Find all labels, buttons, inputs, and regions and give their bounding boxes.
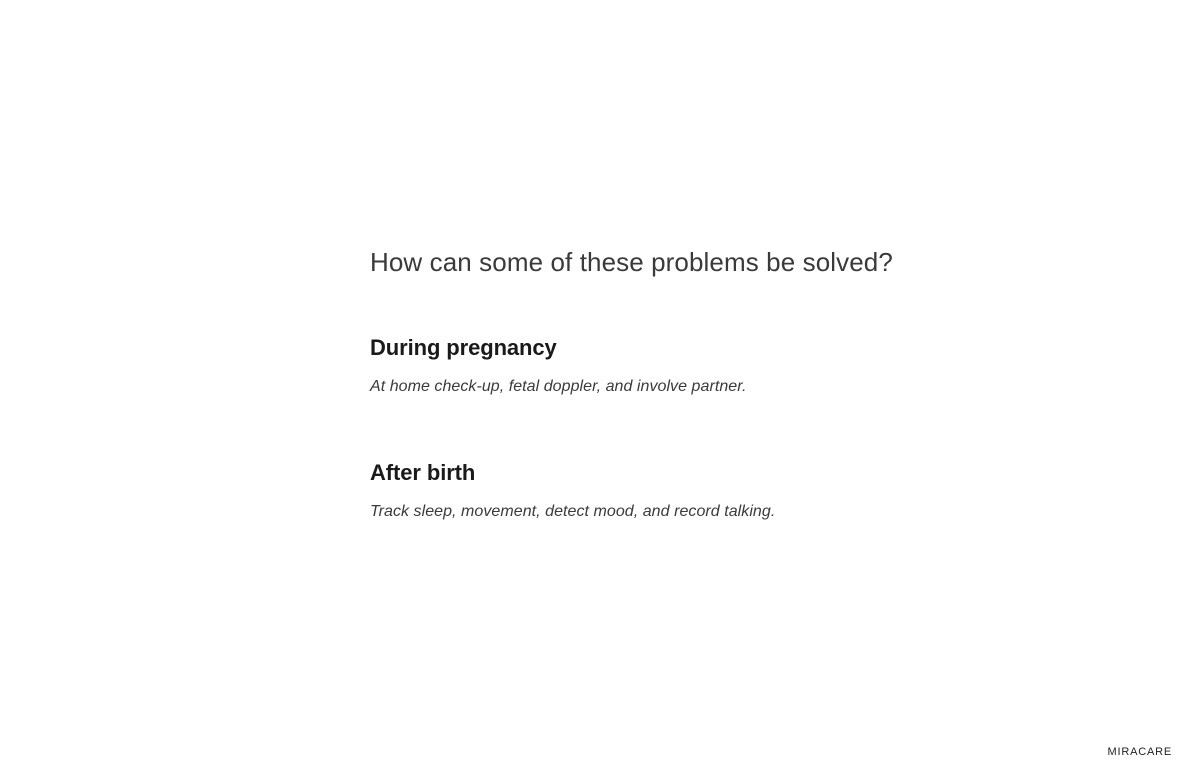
page-title: How can some of these problems be solved… xyxy=(370,246,1090,279)
section-during-pregnancy: During pregnancy At home check-up, fetal… xyxy=(370,335,1090,398)
section-title-during-pregnancy: During pregnancy xyxy=(370,335,1090,361)
slide-canvas: How can some of these problems be solved… xyxy=(0,0,1200,776)
section-title-after-birth: After birth xyxy=(370,460,1090,486)
brand-logo: MIRACARE xyxy=(1108,747,1172,758)
section-after-birth: After birth Track sleep, movement, detec… xyxy=(370,460,1090,523)
slide-content: How can some of these problems be solved… xyxy=(370,246,1090,523)
section-description-after-birth: Track sleep, movement, detect mood, and … xyxy=(370,502,1090,523)
section-description-during-pregnancy: At home check-up, fetal doppler, and inv… xyxy=(370,377,1090,398)
